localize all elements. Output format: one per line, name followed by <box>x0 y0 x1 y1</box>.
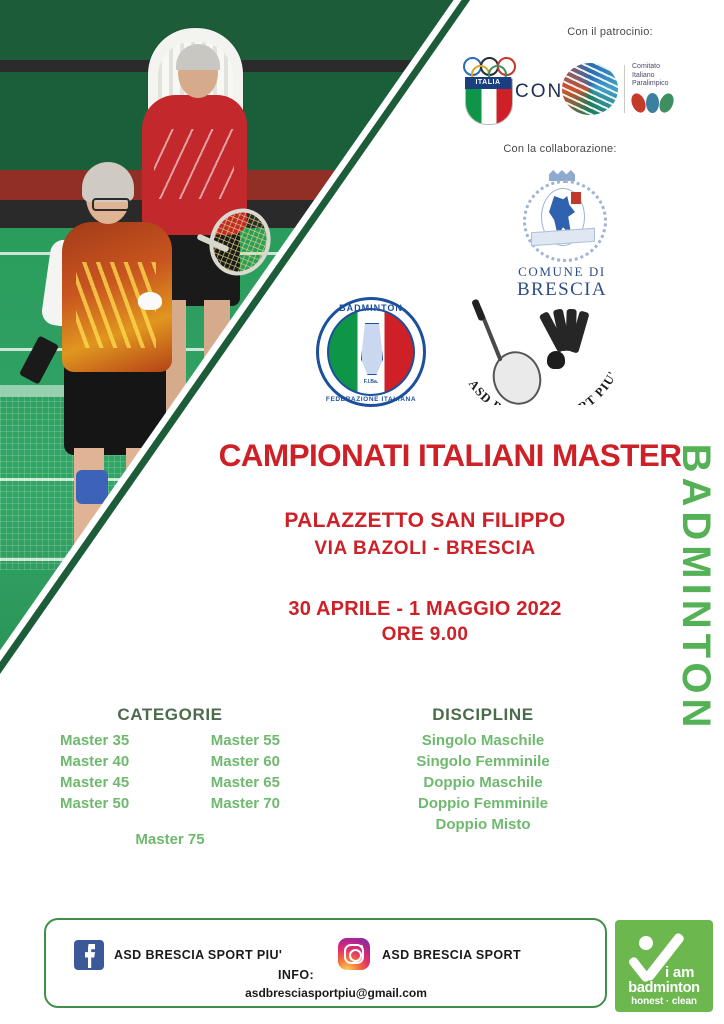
iam-line2: badminton <box>623 980 705 996</box>
asd-brescia-sport-piu-logo: ASD BRESCIA SPORT PIU' <box>455 295 625 405</box>
fib-top-text: BADMINTON <box>316 303 426 313</box>
shoe-left <box>70 572 118 596</box>
discipline-item: Singolo Maschile <box>358 732 608 749</box>
category-item: Master 50 <box>60 795 129 812</box>
asd-racket-grip-icon <box>471 298 486 321</box>
coni-logo: ITALIA CONI <box>445 55 553 127</box>
category-item: Master 40 <box>60 753 129 770</box>
event-dates: 30 APRILE - 1 MAGGIO 2022 <box>190 598 660 621</box>
discipline-item: Singolo Femminile <box>358 753 608 770</box>
category-item: Master 70 <box>211 795 280 812</box>
cip-wordmark: Comitato Italiano Paralimpico <box>632 63 669 89</box>
discipline-item: Doppio Femminile <box>358 795 608 812</box>
venue-name: PALAZZETTO SAN FILIPPO <box>190 509 660 533</box>
instagram-icon[interactable] <box>338 938 370 970</box>
category-item: Master 65 <box>211 774 280 791</box>
eyeglasses <box>92 198 130 211</box>
category-row: Master 35Master 55 <box>35 732 305 749</box>
categories-heading: CATEGORIE <box>35 705 305 725</box>
female-player-legs <box>74 448 158 578</box>
comune-di-brescia-logo: COMUNE DI BRESCIA <box>492 170 632 300</box>
contact-email[interactable]: asdbresciasportpiu@gmail.com <box>166 986 506 1000</box>
category-item: Master 75 <box>35 831 305 848</box>
asd-wordmark-text: ASD BRESCIA SPORT PIU' <box>466 368 620 405</box>
disciplines-heading: DISCIPLINE <box>358 705 608 725</box>
fib-bottom-text: FEDERAZIONE ITALIANA <box>316 396 426 403</box>
i-am-badminton-badge: i am badminton honest · clean <box>615 920 713 1012</box>
category-item: Master 60 <box>211 753 280 770</box>
racket-in-play <box>196 196 270 270</box>
categories-grid: Master 35Master 55 Master 40Master 60 Ma… <box>35 732 305 816</box>
cip-globe-icon <box>562 63 618 115</box>
asd-curved-wordmark: ASD BRESCIA SPORT PIU' <box>455 359 625 405</box>
facebook-icon[interactable] <box>74 940 104 970</box>
category-item: Master 55 <box>211 732 280 749</box>
discipline-item: Doppio Misto <box>358 816 608 833</box>
brescia-crest-icon <box>519 170 605 262</box>
female-player-shorts <box>64 360 166 455</box>
fib-mark: F.I.Ba. <box>316 379 426 385</box>
info-label: INFO: <box>278 968 314 982</box>
category-item: Master 45 <box>60 774 129 791</box>
cip-divider <box>624 65 625 113</box>
facebook-handle[interactable]: ASD BRESCIA SPORT PIU' <box>114 948 282 962</box>
shuttlecock <box>138 292 162 310</box>
knee-brace <box>76 470 108 504</box>
vertical-badminton-wordmark: BADMINTON <box>666 428 724 748</box>
page-title: CAMPIONATI ITALIANI MASTER <box>190 437 710 474</box>
iam-line3: honest · clean <box>623 996 705 1007</box>
venue-address: VIA BAZOLI - BRESCIA <box>190 538 660 560</box>
comune-line1: COMUNE DI <box>492 264 632 280</box>
discipline-item: Doppio Maschile <box>358 774 608 791</box>
category-row: Master 50Master 70 <box>35 795 305 812</box>
category-row: Master 40Master 60 <box>35 753 305 770</box>
category-row: Master 45Master 65 <box>35 774 305 791</box>
collaboration-label: Con la collaborazione: <box>450 143 670 155</box>
iam-line1: i am <box>665 964 694 981</box>
patronage-label: Con il patrocinio: <box>520 26 700 38</box>
poster-root: Con il patrocinio: ITALIA CONI Comitato … <box>0 0 724 1024</box>
instagram-handle[interactable]: ASD BRESCIA SPORT <box>382 948 521 962</box>
cip-logo: Comitato Italiano Paralimpico <box>560 55 680 127</box>
federazione-italiana-badminton-logo: BADMINTON F.I.Ba. FEDERAZIONE ITALIANA <box>316 297 426 407</box>
category-item: Master 35 <box>60 732 129 749</box>
agitos-icon <box>632 93 676 115</box>
coni-italia-label: ITALIA <box>465 77 511 89</box>
shoe-right <box>120 539 172 572</box>
event-time: ORE 9.00 <box>190 624 660 646</box>
svg-text:ASD BRESCIA SPORT PIU': ASD BRESCIA SPORT PIU' <box>466 368 620 405</box>
disciplines-list: Singolo Maschile Singolo Femminile Doppi… <box>358 732 608 837</box>
contact-footer: ASD BRESCIA SPORT PIU' ASD BRESCIA SPORT… <box>44 918 607 1008</box>
